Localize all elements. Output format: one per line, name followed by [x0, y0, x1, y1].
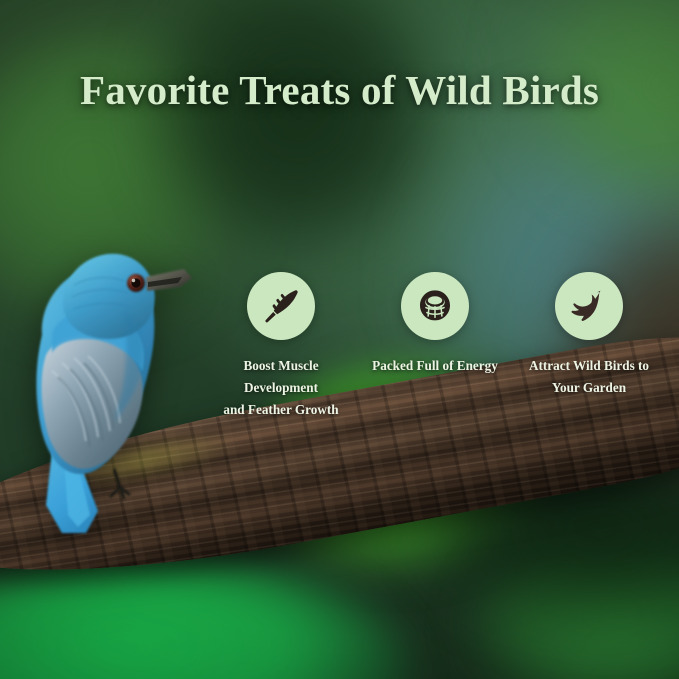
vignette-overlay — [0, 0, 679, 679]
product-banner: Favorite Treats of Wild Birds Boost Musc… — [0, 0, 679, 679]
